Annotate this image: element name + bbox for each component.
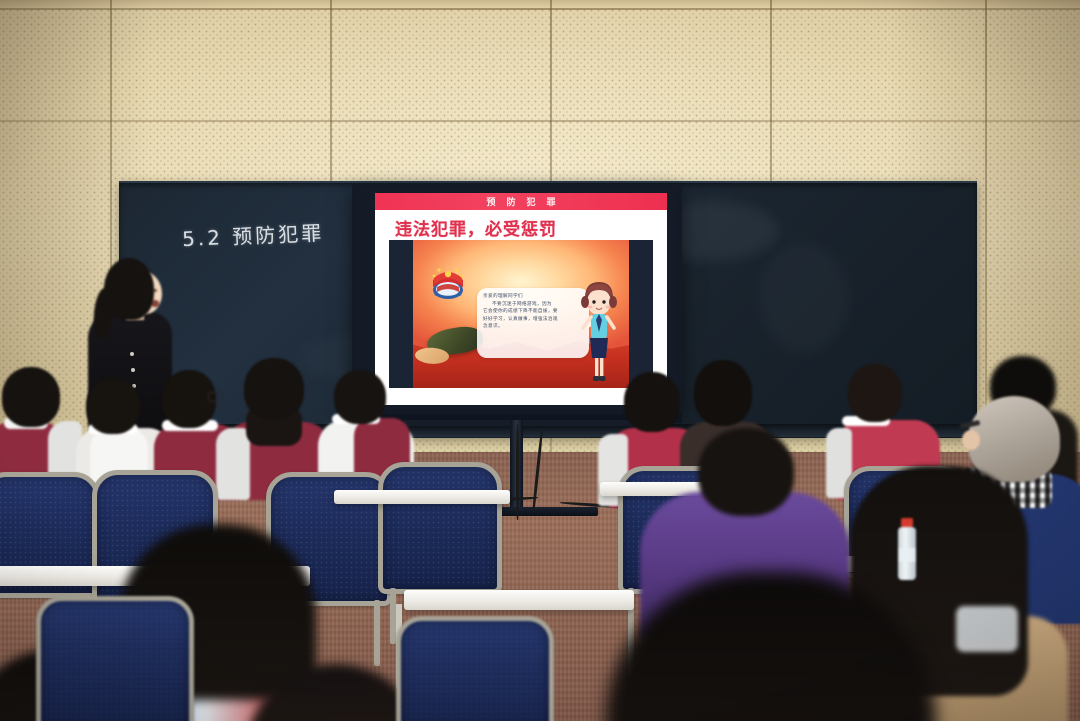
police-emblem — [427, 254, 469, 302]
bubble-line-5: 念意识。 — [483, 323, 583, 331]
blackboard-chalk-text: 5.2 预防犯罪 — [181, 217, 324, 252]
classroom-photo: 5.2 预防犯罪 预防犯罪 违法犯罪，必受惩罚 — [0, 0, 1080, 721]
cartoon-police-officer-girl — [573, 276, 625, 384]
water-bottle[interactable] — [896, 518, 918, 580]
folding-table — [404, 590, 634, 610]
slide-title: 违法犯罪，必受惩罚 — [395, 215, 655, 240]
banquet-chair[interactable] — [40, 600, 190, 721]
presentation-slide: 预防犯罪 违法犯罪，必受惩罚 — [375, 193, 667, 405]
slide-banner-text: 预防犯罪 — [475, 195, 566, 208]
photo-left-band — [389, 240, 413, 388]
teacher-button-2 — [131, 368, 135, 372]
slide-banner: 预防犯罪 — [375, 193, 667, 210]
banquet-chair[interactable] — [382, 466, 498, 590]
teacher-button-1 — [130, 352, 134, 356]
banquet-chair[interactable] — [400, 620, 550, 721]
display-cable-1 — [516, 424, 519, 520]
bubble-line-3: 它会使你的成绩下降不能自拔，要 — [483, 308, 583, 316]
bubble-line-4: 好好学习，认真做事，增强法治观 — [483, 316, 583, 324]
photo-right-band — [629, 240, 653, 388]
bubble-line-2: 不要沉迷于网络游戏，因为 — [483, 301, 583, 309]
slide-photo: 亲爱的理解同学们 不要沉迷于网络游戏，因为 它会使你的成绩下降不能自拔，要 好好… — [389, 240, 653, 388]
bubble-line-1: 亲爱的理解同学们 — [483, 293, 583, 301]
folding-table — [334, 490, 510, 504]
